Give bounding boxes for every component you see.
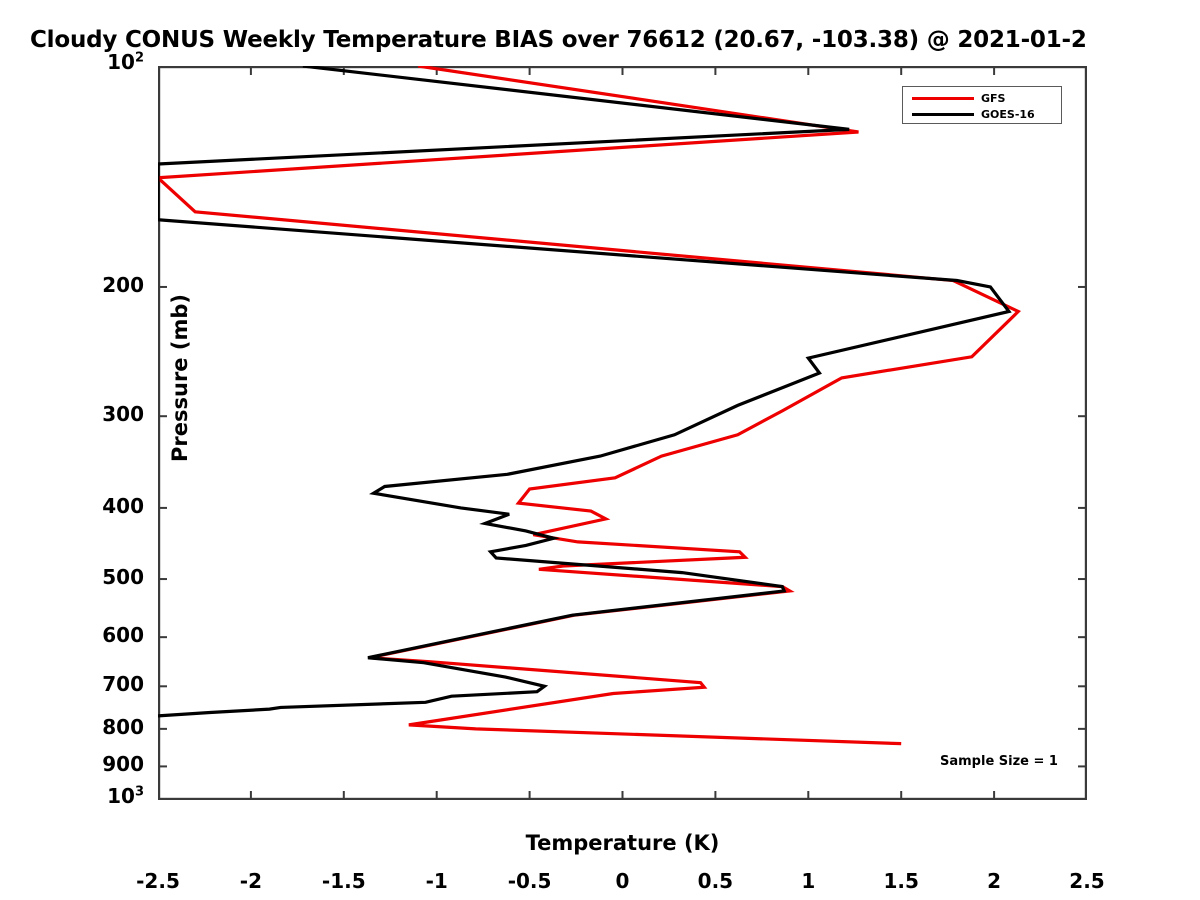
- y-tick-label: 900: [64, 752, 144, 776]
- x-tick-label: 0: [583, 869, 663, 893]
- x-tick-label: 1: [768, 869, 848, 893]
- legend-label-gfs: GFS: [981, 92, 1005, 105]
- series-line-goes-16: [158, 66, 1009, 716]
- series-line-gfs: [158, 66, 1018, 744]
- x-tick-label: -1: [397, 869, 477, 893]
- y-tick-label: 103: [64, 784, 144, 808]
- x-tick-label: -2.5: [118, 869, 198, 893]
- sample-size-annotation: Sample Size = 1: [940, 754, 1058, 769]
- x-tick-label: -1.5: [304, 869, 384, 893]
- x-tick-label: 2.5: [1047, 869, 1127, 893]
- legend-entry-goes16: GOES-16: [903, 107, 1061, 121]
- legend-entry-gfs: GFS: [903, 91, 1061, 105]
- chart-legend: GFS GOES-16: [902, 86, 1062, 124]
- data-series-lines: [158, 66, 1018, 744]
- x-tick-label: -0.5: [490, 869, 570, 893]
- y-tick-label: 200: [64, 273, 144, 297]
- x-axis-label: Temperature (K): [158, 831, 1087, 855]
- chart-figure: Cloudy CONUS Weekly Temperature BIAS ove…: [0, 0, 1200, 900]
- x-tick-label: 0.5: [675, 869, 755, 893]
- y-axis-label: Pressure (mb): [168, 258, 192, 498]
- plot-axes-area: Pressure (mb) Temperature (K) -2.5-2-1.5…: [158, 66, 1087, 800]
- y-tick-label: 700: [64, 672, 144, 696]
- x-tick-label: -2: [211, 869, 291, 893]
- y-tick-label: 102: [64, 50, 144, 74]
- plot-svg-canvas: [158, 66, 1087, 800]
- y-tick-label: 500: [64, 565, 144, 589]
- x-tick-label: 2: [954, 869, 1034, 893]
- y-tick-label: 800: [64, 715, 144, 739]
- y-tick-label: 300: [64, 402, 144, 426]
- legend-label-goes16: GOES-16: [981, 108, 1035, 121]
- tick-marks: [158, 66, 1087, 800]
- legend-swatch-gfs: [912, 97, 974, 100]
- legend-swatch-goes16: [912, 113, 974, 116]
- axis-frame: [159, 67, 1086, 799]
- y-tick-label: 400: [64, 494, 144, 518]
- chart-title: Cloudy CONUS Weekly Temperature BIAS ove…: [30, 27, 1200, 53]
- x-tick-label: 1.5: [861, 869, 941, 893]
- y-tick-label: 600: [64, 623, 144, 647]
